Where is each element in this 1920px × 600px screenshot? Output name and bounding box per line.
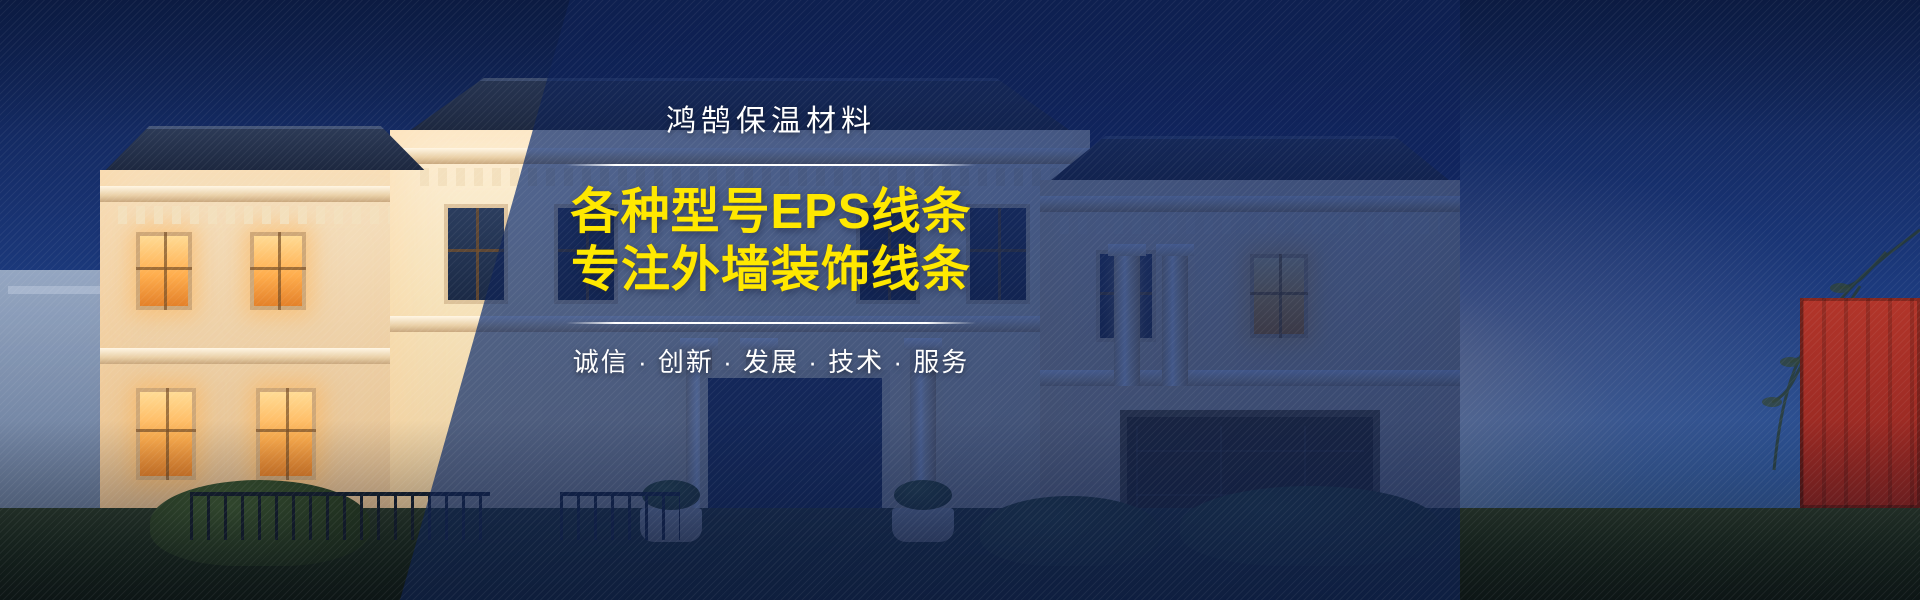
hero-banner: 鸿鹄保温材料 各种型号EPS线条 专注外墙装饰线条 诚信 · 创新 · 发展 ·… (0, 0, 1920, 600)
headline-line-1: 各种型号EPS线条 (556, 184, 986, 242)
tagline: 诚信 · 创新 · 发展 · 技术 · 服务 (556, 342, 986, 379)
divider-top (566, 164, 976, 166)
brand-name: 鸿鹄保温材料 (556, 96, 986, 140)
headline-line-2: 专注外墙装饰线条 (556, 242, 986, 300)
divider-bottom (566, 322, 976, 324)
banner-content: 鸿鹄保温材料 各种型号EPS线条 专注外墙装饰线条 诚信 · 创新 · 发展 ·… (556, 96, 986, 379)
